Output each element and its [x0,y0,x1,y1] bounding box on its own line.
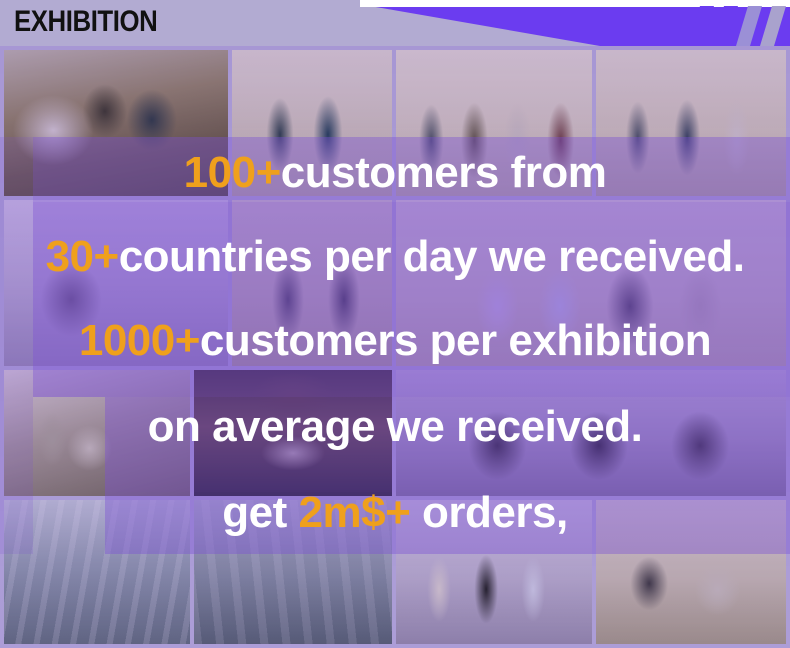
photo-image [396,370,786,496]
photo-group-photo-a [396,50,592,196]
photo-image [396,500,592,644]
photo-suited-clients [396,370,786,496]
photo-big-branded-wall [396,200,786,366]
photo-image [194,500,392,644]
photo-factory-line [4,500,190,644]
photo-image [596,500,786,644]
photo-factory-line-2 [194,500,392,644]
photo-image [4,500,190,644]
photo-image [4,200,228,366]
photo-image [194,370,392,496]
photo-image [596,50,786,196]
photo-desk-consultation [596,500,786,644]
photo-image [4,50,228,196]
photo-meeting-table [4,50,228,196]
photo-office-interior [4,200,228,366]
banner-white-cap [360,0,790,7]
photo-dinner-table-b [194,370,392,496]
photo-collage [0,46,790,648]
photo-showroom-wall-b [232,200,392,366]
photo-image [396,200,786,366]
header-banner: EXHIBITION [0,0,790,46]
photo-dinner-table-a [4,370,190,496]
photo-showroom-tour [396,500,592,644]
photo-image [232,50,392,196]
photo-showroom-wall-a [232,50,392,196]
photo-image [4,370,190,496]
photo-image [396,50,592,196]
exhibition-banner-graphic: EXHIBITION 100+customers from 30+countri… [0,0,790,648]
page-title: EXHIBITION [14,5,157,39]
photo-image [232,200,392,366]
photo-group-photo-b [596,50,786,196]
